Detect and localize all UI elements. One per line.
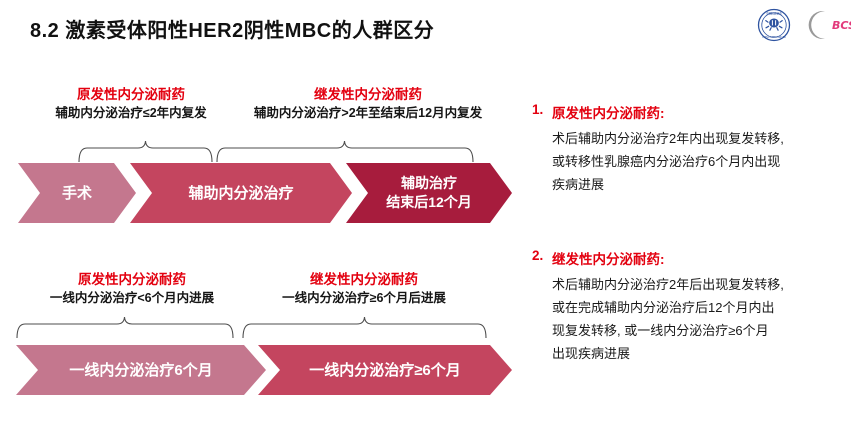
top-label-secondary: 继发性内分泌耐药 辅助内分泌治疗>2年至结束后12月内复发 <box>228 86 508 122</box>
svg-text:BCS: BCS <box>832 19 851 32</box>
definition-item-1-body: 术后辅助内分泌治疗2年内出现复发转移, 或转移性乳腺癌内分泌治疗6个月内出现 疾… <box>552 127 862 196</box>
bottom-label-primary-detail: 一线内分泌治疗<6个月内进展 <box>32 290 232 307</box>
bottom-step-first-line-ge6m-label: 一线内分泌治疗≥6个月 <box>309 361 461 380</box>
post-adjuvant-line2: 结束后12个月 <box>386 194 472 210</box>
definition-item-2-line-2: 或在完成辅助内分泌治疗后12个月内出 <box>552 296 862 319</box>
bottom-step-first-line-6m: 一线内分泌治疗6个月 <box>16 345 266 395</box>
definition-item-2: 2. 继发性内分泌耐药: 术后辅助内分泌治疗2年后出现复发转移, 或在完成辅助内… <box>532 248 862 365</box>
definition-item-2-head: 2. 继发性内分泌耐药: <box>532 248 862 268</box>
top-label-secondary-heading: 继发性内分泌耐药 <box>228 86 508 103</box>
top-label-primary-heading: 原发性内分泌耐药 <box>36 86 226 103</box>
bottom-brace-primary <box>16 316 234 338</box>
definition-item-2-body: 术后辅助内分泌治疗2年后出现复发转移, 或在完成辅助内分泌治疗后12个月内出 现… <box>552 273 862 365</box>
bottom-label-primary: 原发性内分泌耐药 一线内分泌治疗<6个月内进展 <box>32 271 232 307</box>
page-title: 8.2 激素受体阳性HER2阴性MBC的人群区分 <box>30 14 434 43</box>
definition-item-1-head: 1. 原发性内分泌耐药: <box>532 102 862 122</box>
definition-item-1-number: 1. <box>532 102 552 117</box>
svg-text:中国抗癌协会: 中国抗癌协会 <box>766 11 782 15</box>
definition-item-1-line-1: 术后辅助内分泌治疗2年内出现复发转移, <box>552 127 862 150</box>
top-step-surgery: 手术 <box>18 163 136 223</box>
top-label-primary: 原发性内分泌耐药 辅助内分泌治疗≤2年内复发 <box>36 86 226 122</box>
bottom-label-primary-heading: 原发性内分泌耐药 <box>32 271 232 288</box>
bcs-logo: BCS <box>799 8 851 42</box>
definition-item-2-number: 2. <box>532 248 552 263</box>
chinese-anti-cancer-association-logo: 中国抗癌协会 CHINA ANTI-CANCER <box>757 8 791 42</box>
bottom-step-first-line-ge6m: 一线内分泌治疗≥6个月 <box>258 345 512 395</box>
bottom-brace-secondary <box>242 316 487 338</box>
definition-item-2-line-1: 术后辅助内分泌治疗2年后出现复发转移, <box>552 273 862 296</box>
definition-item-1: 1. 原发性内分泌耐药: 术后辅助内分泌治疗2年内出现复发转移, 或转移性乳腺癌… <box>532 102 862 196</box>
svg-text:CHINA ANTI-CANCER: CHINA ANTI-CANCER <box>762 36 786 39</box>
top-label-secondary-detail: 辅助内分泌治疗>2年至结束后12月内复发 <box>228 105 508 122</box>
top-brace-secondary <box>216 140 474 162</box>
definition-item-2-title: 继发性内分泌耐药: <box>552 248 665 268</box>
logo-group: 中国抗癌协会 CHINA ANTI-CANCER BCS <box>757 8 851 42</box>
definition-item-1-title: 原发性内分泌耐药: <box>552 102 665 122</box>
top-step-adjuvant-endocrine: 辅助内分泌治疗 <box>130 163 352 223</box>
definition-item-1-line-3: 疾病进展 <box>552 173 862 196</box>
bottom-step-first-line-6m-label: 一线内分泌治疗6个月 <box>69 361 212 380</box>
definition-item-1-line-2: 或转移性乳腺癌内分泌治疗6个月内出现 <box>552 150 862 173</box>
definition-item-2-line-3: 现复发转移, 或一线内分泌治疗≥6个月 <box>552 319 862 342</box>
top-step-adjuvant-endocrine-label: 辅助内分泌治疗 <box>188 184 293 203</box>
definition-item-2-line-4: 出现疾病进展 <box>552 342 862 365</box>
top-step-post-adjuvant-12m: 辅助治疗 结束后12个月 <box>346 163 512 223</box>
bottom-label-secondary-detail: 一线内分泌治疗≥6个月后进展 <box>254 290 474 307</box>
bottom-label-secondary-heading: 继发性内分泌耐药 <box>254 271 474 288</box>
top-label-primary-detail: 辅助内分泌治疗≤2年内复发 <box>36 105 226 122</box>
bottom-label-secondary: 继发性内分泌耐药 一线内分泌治疗≥6个月后进展 <box>254 271 474 307</box>
post-adjuvant-line1: 辅助治疗 <box>401 175 457 191</box>
top-step-surgery-label: 手术 <box>62 184 92 203</box>
slide-canvas: 8.2 激素受体阳性HER2阴性MBC的人群区分 中国抗癌协会 CHINA AN… <box>0 0 865 440</box>
top-step-post-adjuvant-12m-label: 辅助治疗 结束后12个月 <box>386 174 472 212</box>
top-brace-primary <box>78 140 213 162</box>
